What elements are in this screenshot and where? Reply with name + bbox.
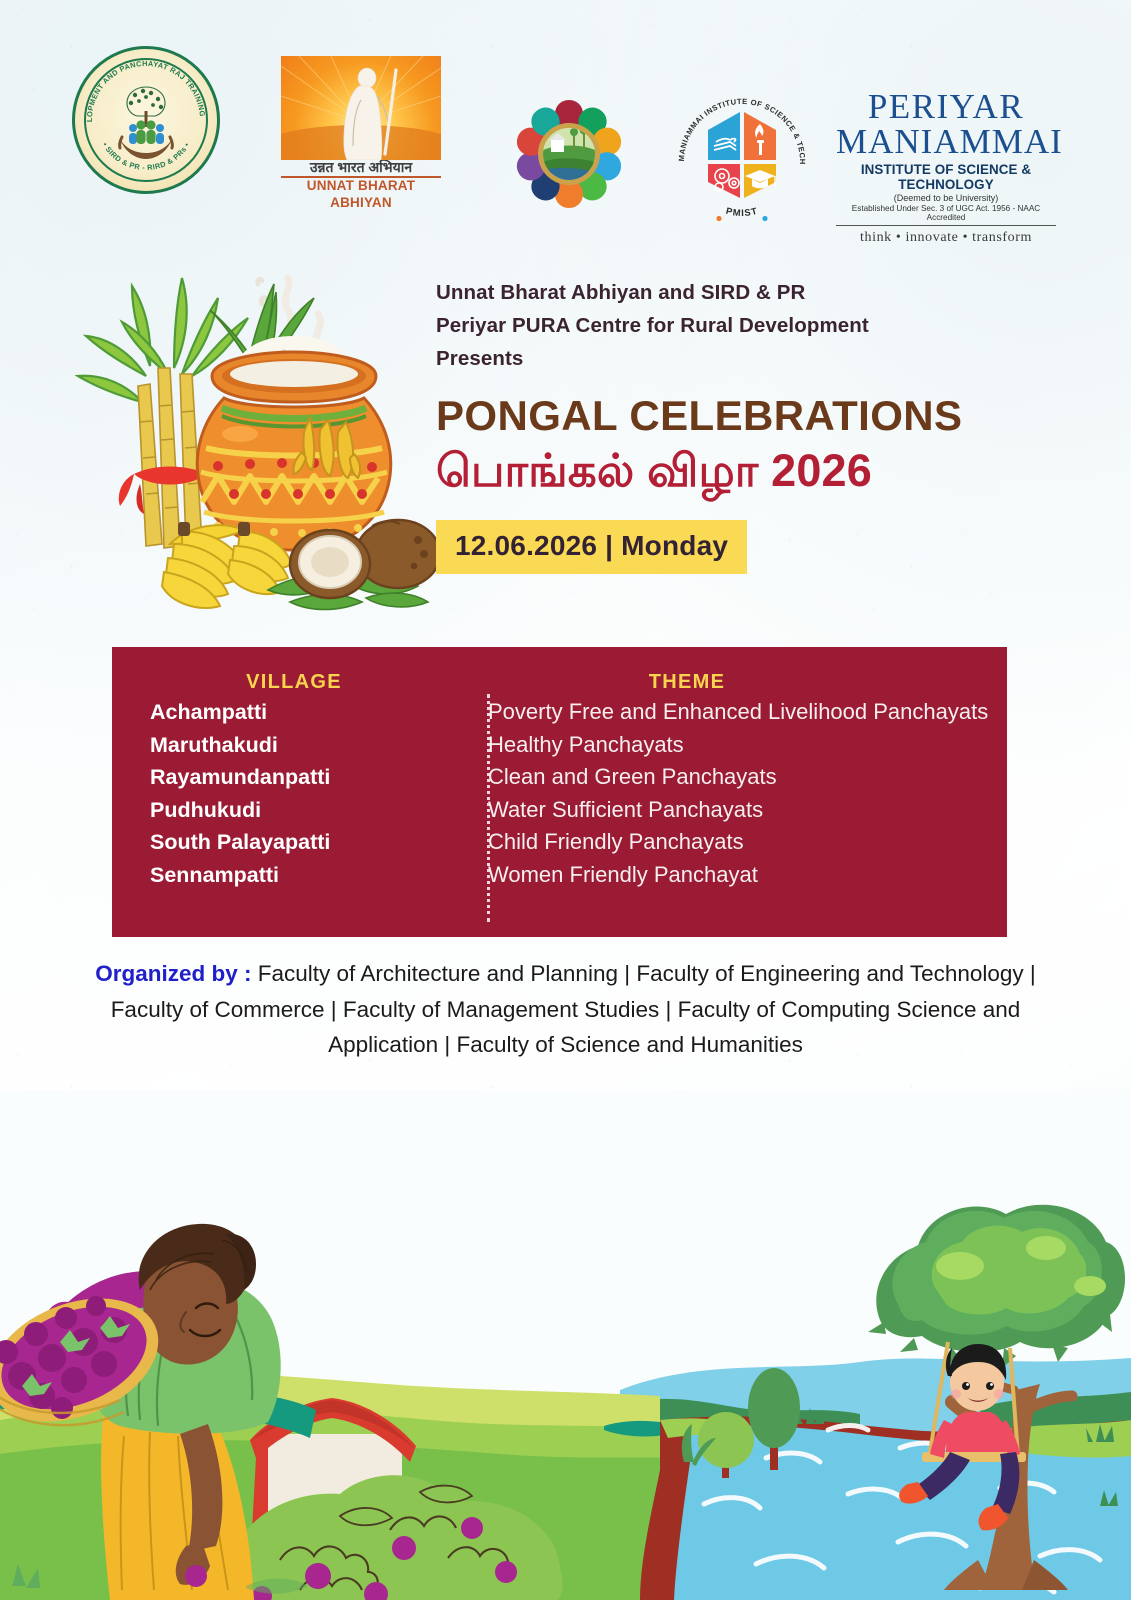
svg-text:RURAL DEVELOPMENT AND PANCHAYA: RURAL DEVELOPMENT AND PANCHAYAT RAJ TRAI… [75, 49, 207, 122]
village-name: Achampatti [150, 700, 468, 725]
rural-village-scene [0, 1090, 1131, 1600]
village-name: Rayamundanpatti [150, 765, 468, 790]
sdg-circle-village-icon [503, 88, 635, 220]
theme-name: Healthy Panchayats [468, 732, 1000, 758]
table-row: Maruthakudi Healthy Panchayats [150, 732, 1000, 765]
periyar-line-4: (Deemed to be University) [836, 193, 1056, 203]
periyar-maniammai-wordmark: PERIYAR MANIAMMAI INSTITUTE OF SCIENCE &… [836, 90, 1056, 236]
organizers-line: Organized by : Faculty of Architecture a… [70, 956, 1061, 1063]
village-name: Maruthakudi [150, 733, 468, 758]
column-header-theme: THEME [512, 671, 862, 694]
table-row: Achampatti Poverty Free and Enhanced Liv… [150, 699, 1000, 732]
village-theme-rows: Achampatti Poverty Free and Enhanced Liv… [150, 699, 1000, 894]
table-row: Rayamundanpatti Clean and Green Panchaya… [150, 764, 1000, 797]
pongal-celebration-poster: RURAL DEVELOPMENT AND PANCHAYAT RAJ TRAI… [0, 0, 1131, 1600]
theme-name: Clean and Green Panchayats [468, 764, 1000, 790]
village-theme-panel: VILLAGE THEME Achampatti Poverty Free an… [112, 647, 1007, 937]
logo-bar: RURAL DEVELOPMENT AND PANCHAYAT RAJ TRAI… [0, 38, 1131, 208]
table-row: Pudhukudi Water Sufficient Panchayats [150, 797, 1000, 830]
sdg-village-ring-logo [503, 88, 635, 220]
hero-text-block: Unnat Bharat Abhiyan and SIRD & PR Periy… [436, 276, 1056, 574]
pongal-pot-illustration [62, 226, 462, 616]
theme-name: Poverty Free and Enhanced Livelihood Pan… [468, 699, 1000, 725]
unnat-bharat-abhiyan-logo: उन्नत भारत अभियान UNNAT BHARAT ABHIYAN [281, 56, 441, 186]
uba-hindi-text: उन्नत भारत अभियान [281, 160, 441, 178]
village-name: South Palayapatti [150, 830, 468, 855]
village-name: Pudhukudi [150, 798, 468, 823]
table-row: South Palayapatti Child Friendly Panchay… [150, 829, 1000, 862]
gandhi-walking-icon [281, 56, 441, 160]
svg-text:PMIST: PMIST [725, 205, 759, 218]
periyar-line-1: PERIYAR [836, 90, 1056, 124]
theme-name: Women Friendly Panchayat [468, 862, 1000, 888]
presenter-line-3: Presents [436, 342, 1056, 375]
event-title-tamil: பொங்கல் விழா 2026 [436, 446, 1056, 496]
theme-name: Water Sufficient Panchayats [468, 797, 1000, 823]
table-row: Sennampatti Women Friendly Panchayat [150, 862, 1000, 895]
periyar-line-2: MANIAMMAI [836, 124, 1056, 160]
organized-by-label: Organized by : [95, 961, 251, 986]
event-title: PONGAL CELEBRATIONS [436, 394, 1056, 438]
presenter-line-1: Unnat Bharat Abhiyan and SIRD & PR [436, 276, 1056, 309]
svg-text:• SIRD & PR - RIRD & PRs •: • SIRD & PR - RIRD & PRs • [101, 141, 192, 172]
uba-english-text: UNNAT BHARAT ABHIYAN [281, 178, 441, 212]
sird-pr-seal-logo: RURAL DEVELOPMENT AND PANCHAYAT RAJ TRAI… [72, 46, 220, 194]
tree-hands-people-icon [120, 87, 173, 159]
periyar-line-5: Established Under Sec. 3 of UGC Act. 195… [836, 204, 1056, 226]
theme-name: Child Friendly Panchayats [468, 829, 1000, 855]
book-torch-gears-graduation-cap-icon: PERIYAR MANIAMMAI INSTITUTE OF SCIENCE &… [672, 90, 812, 232]
periyar-line-3: INSTITUTE OF SCIENCE & TECHNOLOGY [836, 162, 1056, 192]
village-name: Sennampatti [150, 863, 468, 888]
pmist-logo: PERIYAR MANIAMMAI INSTITUTE OF SCIENCE &… [672, 90, 812, 232]
event-date-badge: 12.06.2026 | Monday [436, 520, 747, 574]
presenter-line-2: Periyar PURA Centre for Rural Developmen… [436, 309, 1056, 342]
column-header-village: VILLAGE [174, 671, 414, 694]
periyar-tagline: think • innovate • transform [836, 230, 1056, 246]
